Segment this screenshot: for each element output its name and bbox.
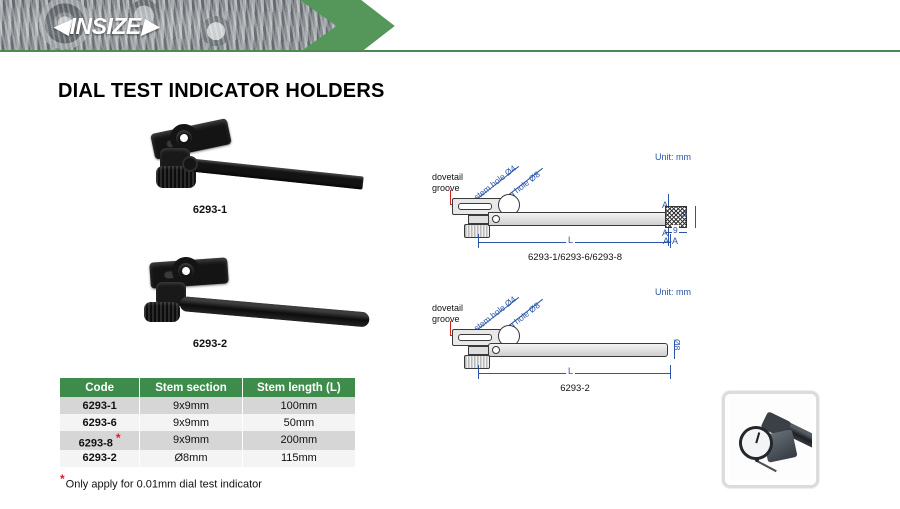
insize-logo: ◀INSIZE▶	[52, 14, 158, 38]
pivot-screw	[182, 156, 198, 172]
stylus-tip-photo	[755, 458, 759, 462]
product-photo-6293-1: 6293-1	[60, 118, 360, 228]
cell-stem-length: 100mm	[242, 397, 355, 414]
section-width-dim: 9	[672, 225, 679, 235]
product-caption: 6293-2	[60, 338, 360, 350]
logo-left-arrow-icon: ◀	[53, 16, 69, 37]
footnote-text: Only apply for 0.01mm dial test indicato…	[66, 479, 262, 491]
column-header-stem-length: Stem length (L)	[242, 378, 355, 397]
column-header-stem-section: Stem section	[140, 378, 243, 397]
footnote-star-icon: *	[60, 472, 65, 486]
drawing-caption: 6293-1/6293-6/6293-8	[480, 252, 670, 263]
dovetail-groove-detail	[458, 334, 492, 341]
cell-stem-length: 200mm	[242, 431, 355, 450]
knurled-knob	[144, 302, 180, 322]
stem-pivot-hole	[492, 346, 500, 354]
table-row: 6293-1 9x9mm 100mm	[60, 397, 355, 414]
dimension-extension-left	[478, 234, 479, 248]
diameter-label: Ø8	[672, 339, 682, 350]
round-stem-bar-outline	[488, 343, 668, 357]
cell-stem-section: Ø8mm	[140, 450, 243, 467]
stem-pivot-hole	[492, 215, 500, 223]
cell-code: 6293-8*	[60, 431, 140, 450]
holder-illustration-square-stem	[60, 118, 360, 200]
knurled-knob-outline	[464, 355, 490, 369]
table-header-row: Code Stem section Stem length (L)	[60, 378, 355, 397]
page-title: DIAL TEST INDICATOR HOLDERS	[58, 80, 385, 103]
cell-code: 6293-2	[60, 450, 140, 467]
stylus-photo	[757, 460, 777, 472]
dovetail-groove-detail	[458, 203, 492, 210]
section-caption: A-A	[663, 236, 678, 246]
section-height-dim-line	[695, 206, 696, 228]
dovetail-label-line1: dovetail	[432, 172, 463, 182]
page-root: ◀INSIZE▶ DIAL TEST INDICATOR HOLDERS 629…	[0, 0, 900, 509]
table-footnote: *Only apply for 0.01mm dial test indicat…	[60, 472, 262, 491]
cell-stem-length: 115mm	[242, 450, 355, 467]
product-caption: 6293-1	[60, 204, 360, 216]
cell-stem-length: 50mm	[242, 414, 355, 431]
header-green-rule	[0, 50, 900, 52]
round-stem-arm	[179, 296, 370, 328]
product-photo-6293-2: 6293-2	[60, 252, 360, 362]
stem-bar-outline	[488, 212, 668, 226]
page-header: ◀INSIZE▶	[0, 0, 900, 52]
specification-table: Code Stem section Stem length (L) 6293-1…	[60, 378, 355, 467]
footnote-star-marker: *	[116, 431, 121, 445]
section-view-a-a: 9 9 A-A	[655, 196, 725, 254]
application-photo	[729, 398, 812, 481]
table-row: 6293-2 Ø8mm 115mm	[60, 450, 355, 467]
cell-stem-section: 9x9mm	[140, 397, 243, 414]
code-text: 6293-2	[82, 452, 116, 464]
code-text: 6293-6	[82, 417, 116, 429]
dimension-extension-left	[478, 365, 479, 379]
code-text: 6293-8	[79, 438, 113, 450]
unit-label: Unit: mm	[655, 152, 691, 162]
cell-stem-section: 9x9mm	[140, 431, 243, 450]
logo-right-arrow-icon: ▶	[142, 16, 158, 37]
code-text: 6293-1	[82, 400, 116, 412]
technical-drawing-round-stem: Unit: mm dovetail groove stem hole Ø4 st…	[430, 285, 730, 395]
unit-label: Unit: mm	[655, 287, 691, 297]
knurled-knob-outline	[464, 224, 490, 238]
column-header-code: Code	[60, 378, 140, 397]
table-row: 6293-8* 9x9mm 200mm	[60, 431, 355, 450]
holder-illustration-round-stem	[60, 252, 360, 334]
cell-stem-section: 9x9mm	[140, 414, 243, 431]
dimension-extension-right	[670, 365, 671, 379]
section-height-dim: 9	[679, 212, 689, 217]
square-stem-arm	[185, 158, 363, 190]
table-row: 6293-6 9x9mm 50mm	[60, 414, 355, 431]
application-photo-frame	[722, 391, 819, 488]
logo-text: INSIZE	[70, 13, 141, 40]
dimension-label-L: L	[566, 366, 575, 376]
drawing-caption: 6293-2	[520, 383, 630, 394]
dimension-label-L: L	[566, 235, 575, 245]
cell-code: 6293-6	[60, 414, 140, 431]
dovetail-label-line1: dovetail	[432, 303, 463, 313]
cell-code: 6293-1	[60, 397, 140, 414]
